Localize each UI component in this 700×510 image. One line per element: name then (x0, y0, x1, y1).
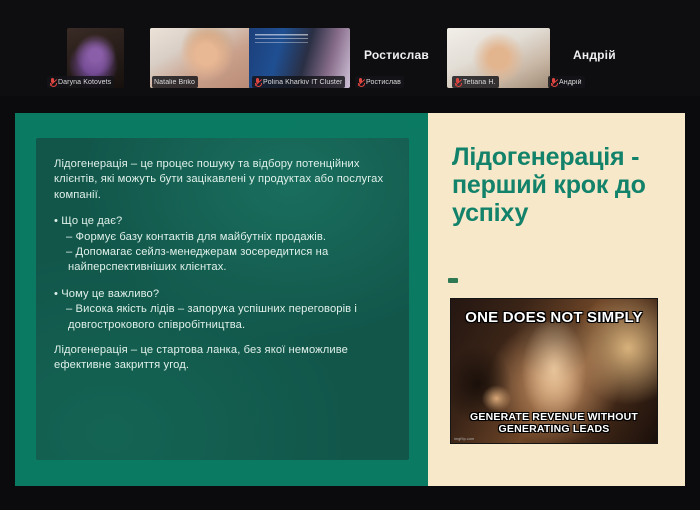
slide-intro-paragraph: Лідогенерація – це процес пошуку та відб… (54, 157, 387, 203)
participant-name: Андрій (559, 79, 582, 86)
screen-share-meeting-view: Daryna Kotovets Natalie Briko Polina Kha… (0, 0, 700, 510)
participant-filmstrip: Daryna Kotovets Natalie Briko Polina Kha… (0, 0, 700, 96)
participant-name: Ростислав (366, 79, 401, 86)
mic-muted-icon (357, 78, 364, 87)
meme-bottom-text: GENERATE REVENUE WITHOUT GENERATING LEAD… (451, 411, 657, 435)
mic-muted-icon (49, 78, 56, 87)
mic-muted-icon (454, 78, 461, 87)
slide-question-1: • Що це дає? (54, 214, 387, 229)
participant-nameplate-rostyslav: Ростислав (355, 76, 404, 88)
slide-answer-1a: – Формує базу контактів для майбутніх пр… (54, 230, 387, 245)
slide-question-2: • Чому це важливо? (54, 287, 387, 302)
participant-name: Tetiana H. (463, 79, 496, 86)
participant-nameplate-andrii: Андрій (548, 76, 585, 88)
slide-right-panel: Лідогенерація - перший крок до успіху ON… (428, 113, 685, 486)
participant-name: Daryna Kotovets (58, 79, 111, 86)
slide-outro-paragraph: Лідогенерація – це стартова ланка, без я… (54, 343, 387, 374)
slide-answer-1b: – Допомагає сейлз-менеджерам зосередитис… (54, 245, 387, 276)
participant-name: Polina Kharkiv IT Cluster (263, 79, 342, 86)
meme-image: ONE DOES NOT SIMPLY GENERATE REVENUE WIT… (450, 298, 658, 444)
shared-slide[interactable]: Лідогенерація – це процес пошуку та відб… (15, 113, 685, 486)
mic-muted-icon (254, 78, 261, 87)
participant-name: Natalie Briko (154, 79, 195, 86)
slide-answer-2a: – Висока якість лідів – запорука успішни… (54, 302, 387, 333)
participant-name-rostyslav: Ростислав (364, 48, 429, 62)
slide-text-box: Лідогенерація – це процес пошуку та відб… (36, 138, 409, 460)
participant-name-andrii: Андрій (573, 48, 616, 62)
meme-watermark: imgflip.com (454, 437, 474, 441)
participant-nameplate-tetiana-h: Tetiana H. (452, 76, 499, 88)
slide-left-panel: Лідогенерація – це процес пошуку та відб… (15, 113, 428, 486)
mic-muted-icon (550, 78, 557, 87)
meme-top-text: ONE DOES NOT SIMPLY (451, 309, 657, 326)
participant-nameplate-daryna-kotovets: Daryna Kotovets (47, 76, 114, 88)
slide-title: Лідогенерація - перший крок до успіху (452, 143, 671, 227)
accent-dot (448, 278, 458, 283)
participant-nameplate-natalie-briko: Natalie Briko (152, 76, 198, 88)
participant-nameplate-polina-kharkiv-it-cluster: Polina Kharkiv IT Cluster (252, 76, 345, 88)
